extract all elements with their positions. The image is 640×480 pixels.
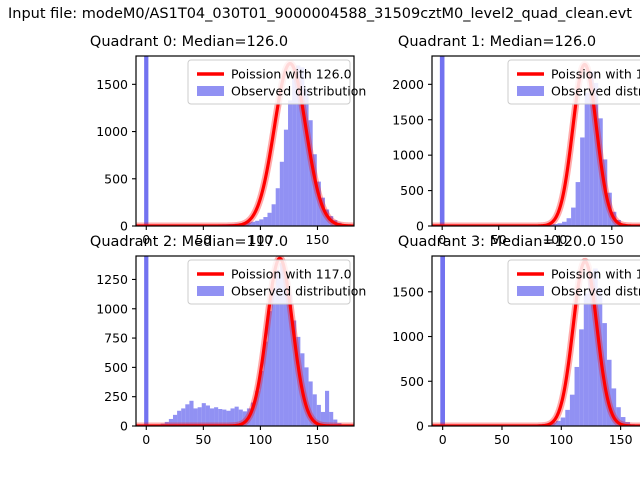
histogram-bar	[189, 401, 193, 426]
y-tick-label: 0	[416, 419, 424, 434]
histogram-bar	[288, 100, 292, 226]
legend-label-model: Poission with 126.0	[551, 67, 640, 82]
subplot-title: Quadrant 1: Median=126.0	[398, 34, 596, 50]
legend-label-model: Poission with 120.0	[551, 267, 640, 282]
x-tick-label: 100	[248, 432, 272, 447]
x-tick-label: 50	[195, 432, 211, 447]
histogram-bar	[276, 188, 280, 226]
histogram-bar	[272, 204, 276, 226]
x-tick-label: 150	[600, 232, 624, 247]
subplot-quadrant-3: Quadrant 3: Median=120.00501001500500100…	[376, 256, 618, 426]
y-tick-label: 1500	[96, 77, 128, 92]
legend-label-model: Poission with 126.0	[231, 67, 352, 82]
legend-swatch-observed	[517, 86, 544, 96]
x-axis: 050100150	[142, 426, 329, 447]
legend-label-observed: Observed distribution	[231, 84, 366, 99]
legend[interactable]: Poission with 120.0Observed distribution	[508, 260, 640, 304]
y-axis: 050010001500	[96, 77, 136, 234]
y-axis: 050010001500	[392, 284, 432, 433]
y-tick-label: 500	[104, 171, 128, 186]
x-tick-label: 0	[142, 432, 150, 447]
legend-swatch-observed	[197, 86, 224, 96]
histogram-bar	[585, 93, 590, 226]
plot-canvas-quadrant-3: 050100150050010001500Poission with 120.0…	[376, 256, 640, 460]
histogram-bar	[565, 410, 570, 426]
y-tick-label: 1000	[392, 329, 424, 344]
histogram-bar	[579, 329, 584, 426]
y-tick-label: 0	[416, 219, 424, 234]
histogram-bar	[267, 213, 271, 226]
plot-canvas-quadrant-2: 050100150025050075010001250Poission with…	[80, 256, 358, 460]
histogram-bar	[562, 222, 567, 226]
legend-label-observed: Observed distribution	[551, 84, 640, 99]
histogram-bar	[280, 162, 284, 226]
histogram-bar	[570, 395, 575, 426]
histogram-bar	[575, 367, 580, 426]
histogram-bar	[561, 418, 566, 427]
y-tick-label: 1250	[96, 272, 128, 287]
histogram-bar	[259, 219, 263, 226]
x-tick-label: 150	[306, 432, 330, 447]
subplot-quadrant-0: Quadrant 0: Median=126.00501001500500100…	[80, 56, 298, 226]
subplot-title: Quadrant 2: Median=117.0	[90, 234, 288, 250]
histogram-bar	[325, 391, 329, 426]
histogram-bar	[567, 218, 572, 226]
legend-label-model: Poission with 117.0	[231, 267, 352, 282]
y-axis: 025050075010001250	[96, 272, 136, 434]
zero-bin-overflow-bar	[144, 42, 148, 226]
y-axis: 0500100015002000	[392, 77, 432, 234]
y-tick-label: 250	[104, 389, 128, 404]
y-tick-label: 500	[400, 374, 424, 389]
plot-canvas-quadrant-0: 050100150050010001500Poission with 126.0…	[80, 56, 358, 260]
matplotlib-figure: Input file: modeM0/AS1T04_030T01_9000004…	[0, 0, 640, 480]
y-tick-label: 500	[400, 183, 424, 198]
histogram-bar	[584, 294, 589, 426]
y-tick-label: 2000	[392, 77, 424, 92]
subplot-title: Quadrant 3: Median=120.0	[398, 234, 596, 250]
legend-swatch-observed	[197, 286, 224, 296]
x-tick-label: 0	[439, 432, 447, 447]
histogram-bar	[255, 221, 259, 226]
y-tick-label: 1500	[392, 112, 424, 127]
subplot-quadrant-2: Quadrant 2: Median=117.00501001500250500…	[80, 256, 298, 426]
y-tick-label: 0	[120, 419, 128, 434]
x-tick-label: 50	[494, 432, 510, 447]
y-tick-label: 1000	[96, 301, 128, 316]
y-tick-label: 750	[104, 331, 128, 346]
histogram-bar	[571, 208, 576, 226]
legend-label-observed: Observed distribution	[231, 284, 366, 299]
figure-suptitle: Input file: modeM0/AS1T04_030T01_9000004…	[8, 6, 632, 22]
legend-label-observed: Observed distribution	[551, 284, 640, 299]
zero-bin-overflow-bar	[440, 242, 445, 426]
y-tick-label: 1000	[392, 148, 424, 163]
histogram-bar	[580, 137, 585, 226]
x-axis: 050100150	[439, 426, 633, 447]
legend-swatch-observed	[517, 286, 544, 296]
plot-canvas-quadrant-1: 0501001502000500100015002000Poission wit…	[376, 56, 640, 260]
y-tick-label: 1000	[96, 124, 128, 139]
zero-bin-overflow-bar	[440, 42, 445, 226]
y-tick-label: 1500	[392, 284, 424, 299]
legend[interactable]: Poission with 117.0Observed distribution	[188, 260, 366, 304]
histogram-bar	[576, 182, 581, 226]
subplot-quadrant-1: Quadrant 1: Median=126.00501001502000500…	[376, 56, 618, 226]
x-tick-label: 150	[306, 232, 330, 247]
x-tick-label: 100	[549, 432, 573, 447]
legend[interactable]: Poission with 126.0Observed distribution	[188, 60, 366, 104]
y-tick-label: 0	[120, 219, 128, 234]
zero-bin-overflow-bar	[144, 242, 148, 426]
subplot-title: Quadrant 0: Median=126.0	[90, 34, 288, 50]
legend[interactable]: Poission with 126.0Observed distribution	[508, 60, 640, 104]
x-tick-label: 150	[609, 432, 633, 447]
histogram-bar	[263, 217, 267, 226]
y-tick-label: 500	[104, 360, 128, 375]
histogram-bar	[284, 130, 288, 226]
